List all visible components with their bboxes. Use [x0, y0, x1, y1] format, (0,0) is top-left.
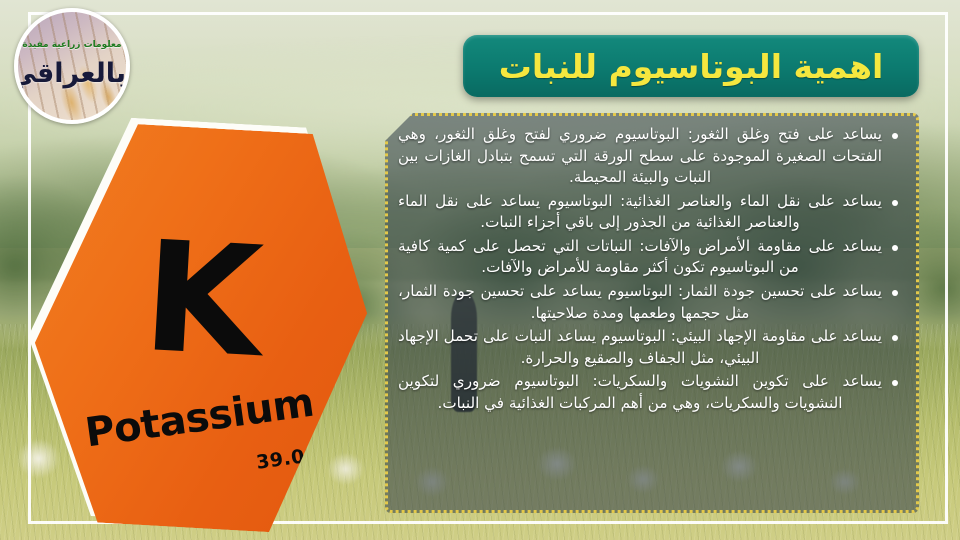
page-title: اهمية البوتاسيوم للنبات [499, 50, 884, 83]
list-item: يساعد على مقاومة الإجهاد البيئي: البوتاس… [398, 326, 902, 369]
element-atomic-mass: 39.0983 [255, 440, 347, 474]
logo-tagline: معلومات زراعية مفيدة [18, 41, 126, 50]
content-panel: يساعد على فتح وغلق الثغور: البوتاسيوم ضر… [385, 113, 919, 513]
potassium-element-card: K Potassium 39.0983 [25, 119, 377, 537]
benefits-list: يساعد على فتح وغلق الثغور: البوتاسيوم ضر… [398, 124, 902, 415]
brand-logo: معلومات زراعية مفيدة بالعراقي [14, 8, 130, 124]
slide-canvas: K Potassium 39.0983 اهمية البوتاسيوم للن… [0, 0, 960, 540]
list-item: يساعد على فتح وغلق الثغور: البوتاسيوم ضر… [398, 124, 902, 189]
list-item: يساعد على مقاومة الأمراض والآفات: النبات… [398, 236, 902, 279]
element-symbol: K [34, 215, 372, 385]
list-item: يساعد على نقل الماء والعناصر الغذائية: ا… [398, 191, 902, 234]
element-name-text: Potassium [82, 380, 316, 457]
logo-brand-name: بالعراقي [18, 60, 126, 87]
list-item: يساعد على تكوين النشويات والسكريات: البو… [398, 371, 902, 414]
list-item: يساعد على تحسين جودة الثمار: البوتاسيوم … [398, 281, 902, 324]
title-banner: اهمية البوتاسيوم للنبات [463, 35, 919, 97]
